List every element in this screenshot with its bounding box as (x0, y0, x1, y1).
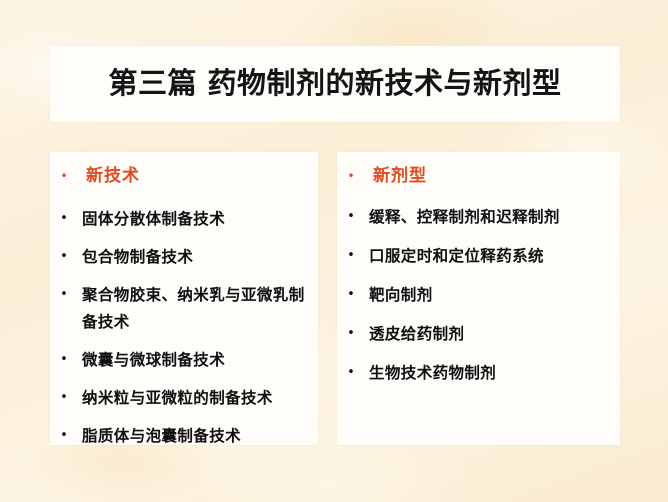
bullet-dot-icon: • (343, 162, 359, 191)
bullet-dot-icon: • (343, 320, 359, 347)
list-item-label: 聚合物胶束、纳米乳与亚微乳制备技术 (72, 281, 312, 335)
list-item-label: 脂质体与泡囊制备技术 (72, 422, 241, 445)
list-item-label: 微囊与微球制备技术 (72, 346, 225, 373)
list-item-label: 口服定时和定位释药系统 (359, 242, 544, 269)
page-title: 第三篇 药物制剂的新技术与新剂型 (108, 67, 561, 100)
bullet-dot-icon: • (343, 359, 359, 386)
bullet-dot-icon: • (56, 205, 72, 232)
bullet-dot-icon: • (56, 281, 72, 308)
bullet-dot-icon: • (343, 281, 359, 308)
content-columns: • 新技术 • 固体分散体制备技术 • 包合物制备技术 • 聚合物胶束、纳米乳与… (50, 152, 620, 445)
list-item[interactable]: • 固体分散体制备技术 (56, 205, 312, 232)
list-item-label: 纳米粒与亚微粒的制备技术 (72, 384, 273, 411)
list-item[interactable]: • 生物技术药物制剂 (343, 359, 614, 386)
list-item[interactable]: • 微囊与微球制备技术 (56, 346, 312, 373)
list-item-label: 生物技术药物制剂 (359, 359, 496, 386)
list-item-label: 靶向制剂 (359, 281, 433, 308)
list-item-label: 透皮给药制剂 (359, 320, 464, 347)
list-item[interactable]: • 纳米粒与亚微粒的制备技术 (56, 384, 312, 411)
list-item-heading-left[interactable]: • 新技术 (56, 162, 312, 191)
column-heading-label: 新剂型 (359, 162, 427, 191)
bullet-dot-icon: • (343, 242, 359, 269)
list-item[interactable]: • 透皮给药制剂 (343, 320, 614, 347)
list-item-label: 缓释、控释制剂和迟释制剂 (359, 203, 560, 230)
bullet-dot-icon: • (343, 203, 359, 230)
bullet-dot-icon: • (56, 384, 72, 411)
list-item[interactable]: • 包合物制备技术 (56, 243, 312, 270)
list-item[interactable]: • 聚合物胶束、纳米乳与亚微乳制备技术 (56, 281, 312, 335)
list-item[interactable]: • 口服定时和定位释药系统 (343, 242, 614, 269)
list-item-label: 包合物制备技术 (72, 243, 193, 270)
column-panel-new-technologies: • 新技术 • 固体分散体制备技术 • 包合物制备技术 • 聚合物胶束、纳米乳与… (50, 152, 318, 445)
title-panel: 第三篇 药物制剂的新技术与新剂型 (50, 46, 620, 122)
list-item[interactable]: • 脂质体与泡囊制备技术 (56, 422, 312, 445)
bullet-list-left: • 新技术 • 固体分散体制备技术 • 包合物制备技术 • 聚合物胶束、纳米乳与… (56, 162, 312, 445)
list-item[interactable]: • 缓释、控释制剂和迟释制剂 (343, 203, 614, 230)
bullet-dot-icon: • (56, 346, 72, 373)
slide-root: { "slide": { "title": "第三篇 药物制剂的新技术与新剂型"… (0, 0, 668, 502)
bullet-dot-icon: • (56, 243, 72, 270)
list-item-label: 固体分散体制备技术 (72, 205, 225, 232)
bullet-dot-icon: • (56, 422, 72, 445)
list-item[interactable]: • 靶向制剂 (343, 281, 614, 308)
column-panel-new-dosage-forms: • 新剂型 • 缓释、控释制剂和迟释制剂 • 口服定时和定位释药系统 • 靶向制… (337, 152, 620, 445)
column-heading-label: 新技术 (72, 162, 140, 191)
bullet-dot-icon: • (56, 162, 72, 191)
list-item-heading-right[interactable]: • 新剂型 (343, 162, 614, 191)
bullet-list-right: • 新剂型 • 缓释、控释制剂和迟释制剂 • 口服定时和定位释药系统 • 靶向制… (343, 162, 614, 386)
